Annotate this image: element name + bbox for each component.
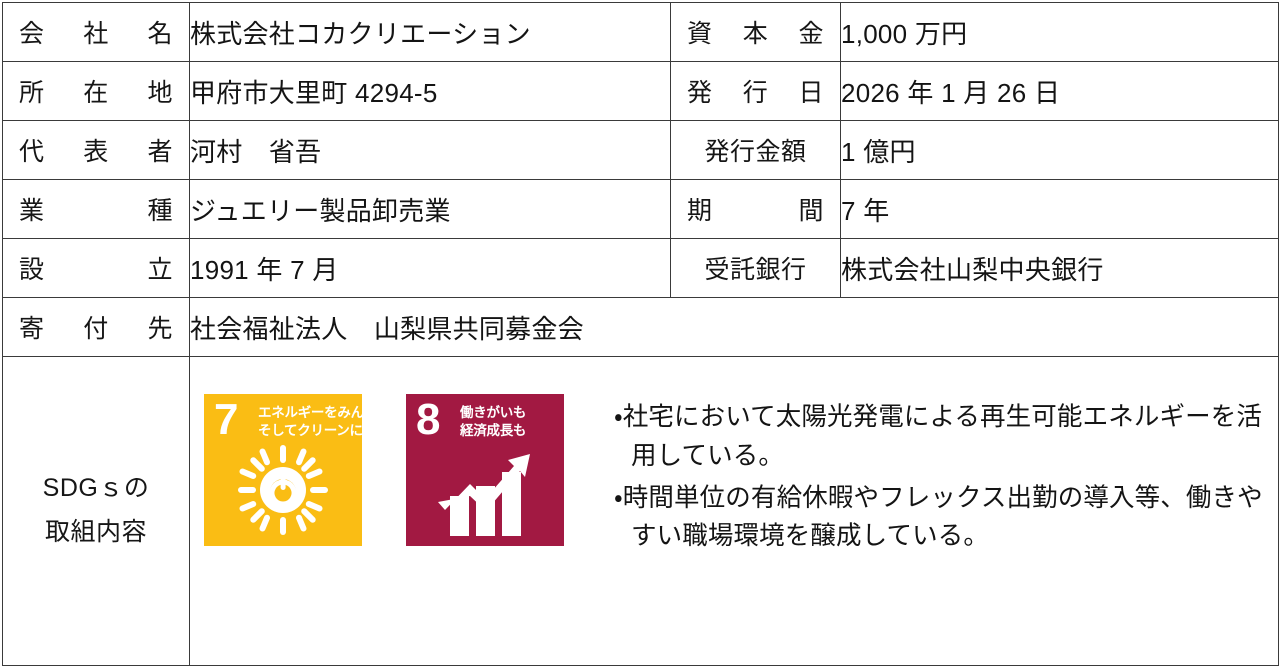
sdgs-bullet-item: ・社宅において太陽光発電による再生可能エネルギーを活用している。: [614, 398, 1266, 476]
row-label-established: 設 立: [3, 239, 190, 298]
sdg-goal-7-number: 7: [214, 398, 238, 442]
sdgs-activity-bullets: ・社宅において太陽光発電による再生可能エネルギーを活用している。 ・時間単位の有…: [564, 394, 1278, 559]
row-value-issue-date: 2026 年 1 月 26 日: [841, 62, 1279, 121]
sdg-icon-group: 7 エネルギーをみんなに そしてクリーンに: [204, 394, 564, 546]
row-value-company-name: 株式会社コカクリエーション: [190, 3, 671, 62]
row-value-established: 1991 年 7 月: [190, 239, 671, 298]
row-label-address: 所 在 地: [3, 62, 190, 121]
sdg-goal-7-caption: エネルギーをみんなに そしてクリーンに: [258, 404, 362, 440]
table-row: 会 社 名 株式会社コカクリエーション 資 本 金 1,000 万円: [3, 3, 1279, 62]
row-label-period: 期 間: [671, 180, 841, 239]
sdg-goal-7-icon: 7 エネルギーをみんなに そしてクリーンに: [204, 394, 362, 546]
row-value-capital: 1,000 万円: [841, 3, 1279, 62]
sdgs-content-cell: 7 エネルギーをみんなに そしてクリーンに: [190, 357, 1279, 666]
sdgs-bullet-item: ・時間単位の有給休暇やフレックス出勤の導入等、働きやすい職場環境を醸成している。: [614, 479, 1266, 557]
row-label-sdgs-activities: SDGｓの 取組内容: [3, 357, 190, 666]
row-label-company-name: 会 社 名: [3, 3, 190, 62]
company-info-table: 会 社 名 株式会社コカクリエーション 資 本 金 1,000 万円 所 在 地…: [2, 2, 1279, 666]
row-value-representative: 河村 省吾: [190, 121, 671, 180]
table-row: 業 種 ジュエリー製品卸売業 期 間 7 年: [3, 180, 1279, 239]
table-row: 設 立 1991 年 7 月 受託銀行 株式会社山梨中央銀行: [3, 239, 1279, 298]
row-label-donation-recipient: 寄 付 先: [3, 298, 190, 357]
sdg-goal-8-number: 8: [416, 398, 440, 442]
row-value-donation-recipient: 社会福祉法人 山梨県共同募金会: [190, 298, 1279, 357]
row-value-period: 7 年: [841, 180, 1279, 239]
company-info-sheet: 会 社 名 株式会社コカクリエーション 資 本 金 1,000 万円 所 在 地…: [0, 2, 1280, 672]
sdg-goal-8-icon: 8 働きがいも 経済成長も: [406, 394, 564, 546]
row-label-issue-date: 発 行 日: [671, 62, 841, 121]
row-value-industry: ジュエリー製品卸売業: [190, 180, 671, 239]
sdg-goal-8-caption: 働きがいも 経済成長も: [460, 404, 526, 440]
table-row: 代 表 者 河村 省吾 発行金額 1 億円: [3, 121, 1279, 180]
row-label-capital: 資 本 金: [671, 3, 841, 62]
row-value-issue-amount: 1 億円: [841, 121, 1279, 180]
sun-power-icon: [204, 440, 362, 540]
growth-chart-arrow-icon: [406, 444, 564, 540]
row-label-industry: 業 種: [3, 180, 190, 239]
row-label-issue-amount: 発行金額: [671, 121, 841, 180]
row-value-trustee-bank: 株式会社山梨中央銀行: [841, 239, 1279, 298]
row-label-representative: 代 表 者: [3, 121, 190, 180]
row-label-trustee-bank: 受託銀行: [671, 239, 841, 298]
row-value-address: 甲府市大里町 4294-5: [190, 62, 671, 121]
table-row: 寄 付 先 社会福祉法人 山梨県共同募金会: [3, 298, 1279, 357]
table-row-sdgs: SDGｓの 取組内容 7 エネルギーをみんなに そしてクリーンに: [3, 357, 1279, 666]
table-row: 所 在 地 甲府市大里町 4294-5 発 行 日 2026 年 1 月 26 …: [3, 62, 1279, 121]
